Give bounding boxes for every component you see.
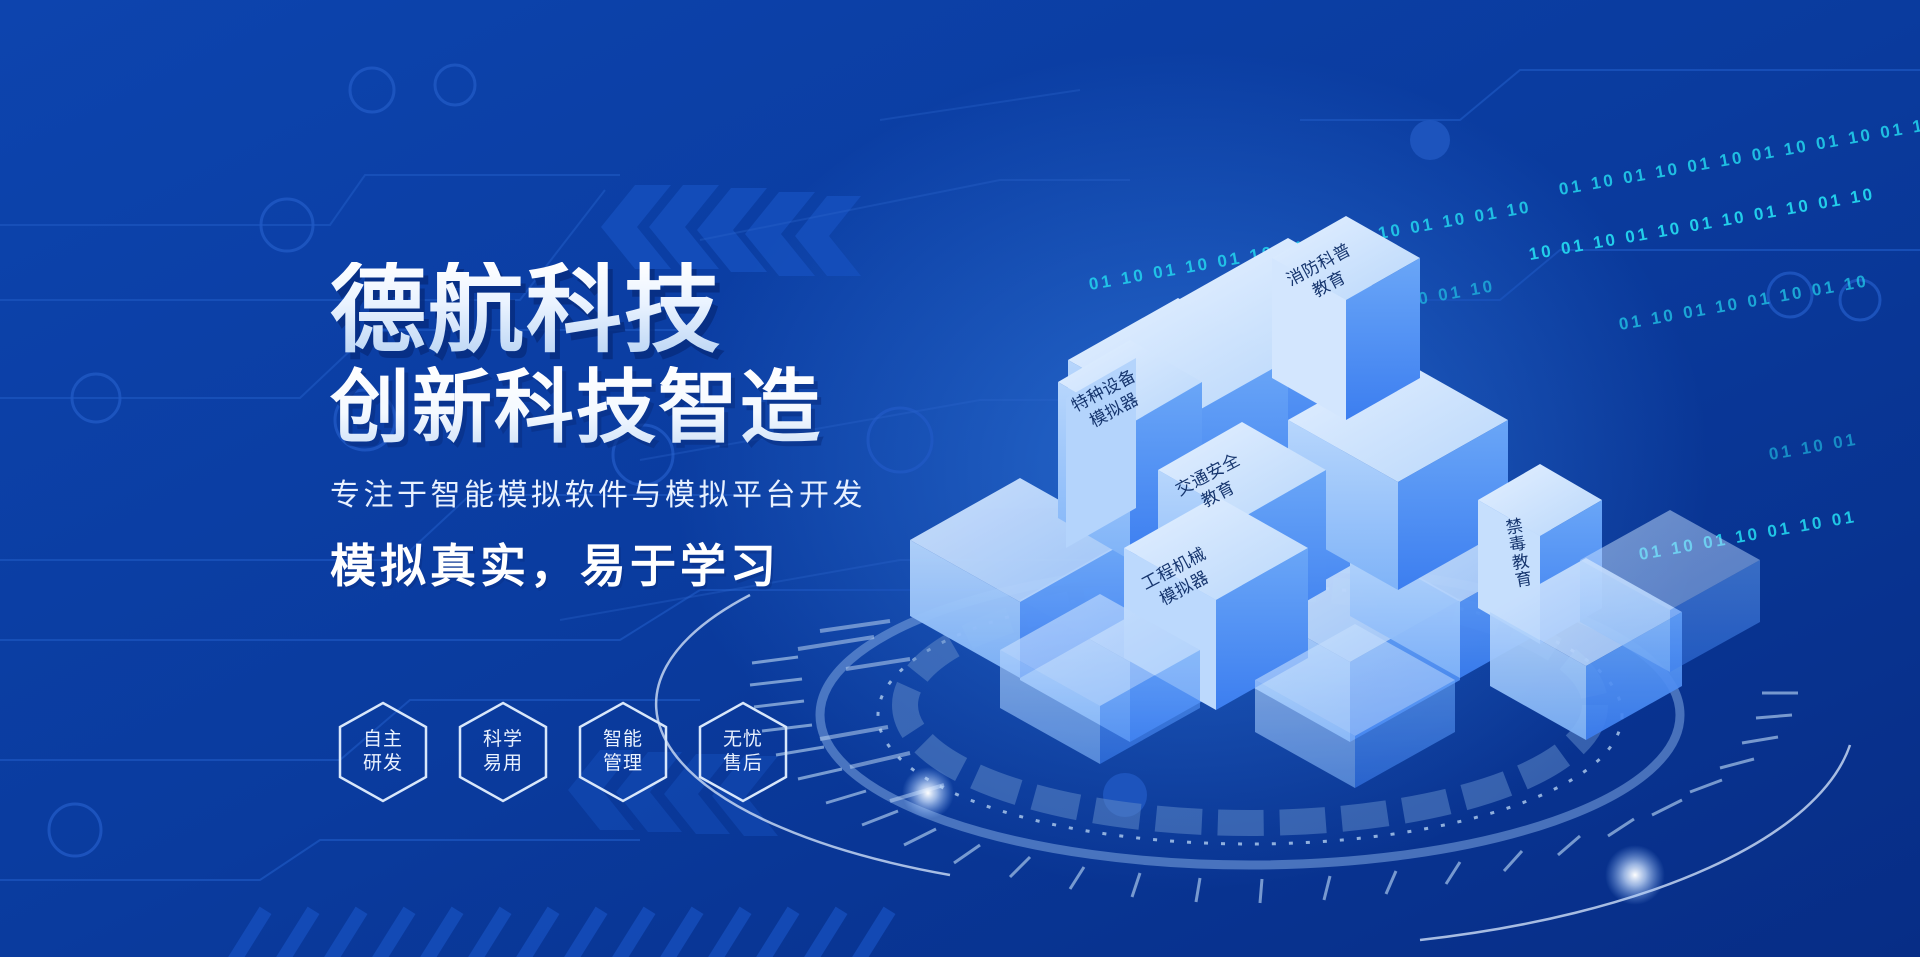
feature-badge-scientific-easy[interactable]: 科学 易用 (456, 700, 550, 804)
hero-slogan: 模拟真实，易于学习 (330, 530, 1050, 596)
cube-label-fire-safety: 消防科普 教育 (1283, 239, 1366, 311)
badge-line1: 科学 (483, 728, 523, 752)
cube-label-construction-machinery: 工程机械 模拟器 (1138, 543, 1221, 615)
cube-label-line1: 禁毒 (1499, 516, 1527, 554)
badge-line2: 研发 (363, 752, 403, 776)
cube-label-traffic-safety: 交通安全 教育 (1172, 449, 1255, 521)
badge-line2: 易用 (483, 752, 523, 776)
brand-title: 德航科技 (330, 262, 1050, 360)
feature-badge-smart-management[interactable]: 智能 管理 (576, 700, 670, 804)
badge-line1: 自主 (363, 728, 403, 752)
hero-subtitle: 专注于智能模拟软件与模拟平台开发 (330, 470, 1050, 514)
feature-badge-row: 自主 研发 科学 易用 智能 管理 (336, 700, 790, 804)
hero-banner: 01 10 01 10 01 10 01 10 01 10 01 10 01 1… (0, 0, 1920, 957)
cube-label-line2: 教育 (1505, 552, 1533, 590)
badge-line2: 售后 (723, 752, 763, 776)
badge-line1: 无忧 (723, 728, 763, 752)
cube-label-special-equipment: 特种设备 模拟器 (1068, 365, 1151, 437)
hero-copy: 德航科技 创新科技智造 专注于智能模拟软件与模拟平台开发 模拟真实，易于学习 (330, 262, 1050, 596)
page-title: 创新科技智造 (330, 366, 1050, 450)
cube-label-anti-drug: 禁毒 教育 (1499, 516, 1533, 590)
badge-line1: 智能 (603, 728, 643, 752)
feature-badge-worry-free-support[interactable]: 无忧 售后 (696, 700, 790, 804)
feature-badge-self-development[interactable]: 自主 研发 (336, 700, 430, 804)
badge-line2: 管理 (603, 752, 643, 776)
